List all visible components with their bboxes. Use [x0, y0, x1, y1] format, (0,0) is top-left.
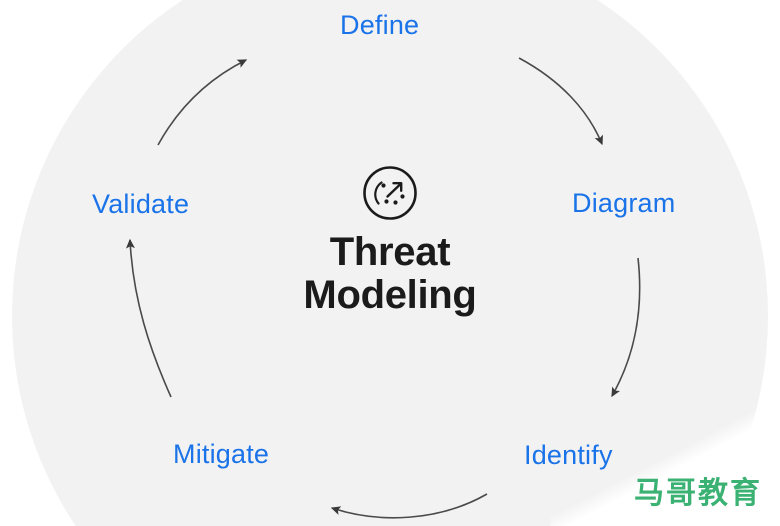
- center-title-line-2: Modeling: [250, 274, 530, 317]
- center-block: Threat Modeling: [250, 163, 530, 317]
- arrow-identify-to-mitigate: [332, 494, 487, 518]
- watermark-logo-text: 马哥教育: [634, 468, 762, 512]
- radar-scan-icon: [360, 163, 420, 223]
- stage-label-mitigate[interactable]: Mitigate: [173, 441, 269, 468]
- center-title-line-1: Threat: [330, 230, 450, 274]
- threat-modeling-diagram: Define Diagram Identify Mitigate Validat…: [0, 0, 780, 526]
- stage-label-validate[interactable]: Validate: [92, 191, 189, 218]
- arrow-define-to-diagram: [519, 58, 602, 144]
- arrow-validate-to-define: [158, 60, 246, 145]
- arrow-mitigate-to-validate: [130, 240, 171, 397]
- stage-label-define[interactable]: Define: [340, 12, 419, 39]
- stage-label-identify[interactable]: Identify: [524, 442, 613, 469]
- center-title: Threat Modeling: [250, 231, 530, 317]
- arrow-diagram-to-identify: [612, 258, 640, 396]
- stage-label-diagram[interactable]: Diagram: [572, 190, 675, 217]
